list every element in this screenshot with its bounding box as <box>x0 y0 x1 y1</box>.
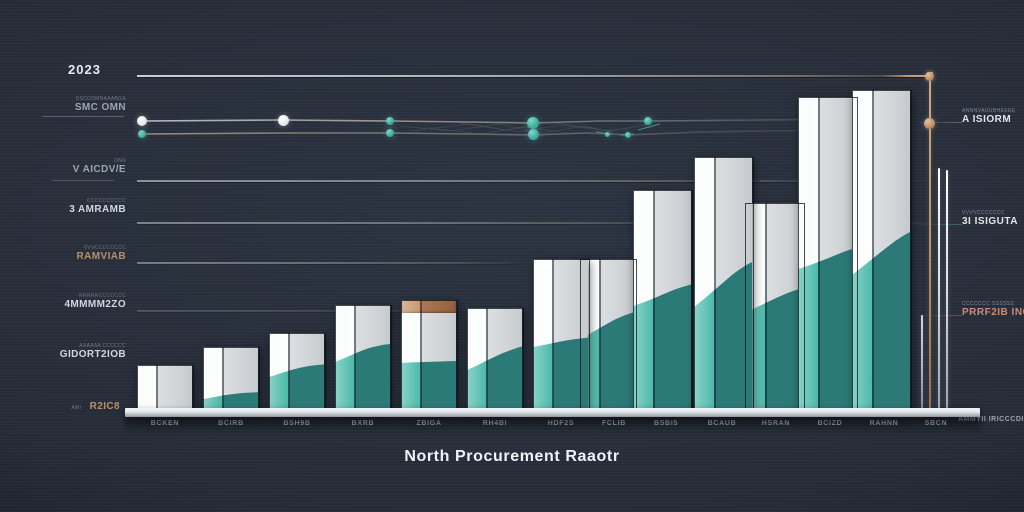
bar-13[interactable] <box>852 90 910 410</box>
axis-baseline <box>125 408 980 417</box>
bar-5-edge <box>420 300 422 410</box>
y-axis-label-3: CCCCCCCCCC 3 AMRAMB <box>0 198 126 215</box>
bar-2-teal <box>203 347 258 410</box>
bar-9[interactable] <box>633 190 691 410</box>
bar-10-edge <box>714 157 716 410</box>
bar-4-teal <box>335 305 390 410</box>
bar-7[interactable] <box>533 259 588 410</box>
annotation-right-2-connector <box>904 224 962 225</box>
line-marker-upper-3 <box>386 117 394 125</box>
bar-3[interactable] <box>269 333 324 410</box>
chart-canvas: 2023 DSCODMNAAABGA SMC OMN ONN V AICDV/E… <box>0 0 1024 512</box>
gridline-2 <box>137 180 787 182</box>
year-label: 2023 <box>68 62 101 77</box>
bar-4[interactable] <box>335 305 390 410</box>
bar-4-edge <box>354 305 356 410</box>
chart-title: North Procurement Raaotr <box>0 448 1024 466</box>
y-axis-label-5: RRRRRCCCCCCC 4MMMM2ZO <box>0 293 126 310</box>
annotation-right-1-connector <box>916 122 962 123</box>
bar-11[interactable] <box>745 203 803 410</box>
bar-3-teal <box>269 333 324 410</box>
bar-5[interactable] <box>401 300 456 410</box>
gridline-5 <box>137 310 437 312</box>
bar-1[interactable] <box>137 365 192 410</box>
bar-11-teal <box>745 203 803 410</box>
bar-9-teal <box>633 190 691 410</box>
annotation-right-2: VVVVCCCCCCC 3I ISIGUTA <box>962 210 1018 227</box>
bar-10-teal <box>694 157 752 410</box>
bar-8-edge <box>599 259 601 410</box>
annotation-right-3-value: PRRF2IB INCOGIM <box>962 307 1024 318</box>
y-axis-label-7: AMI R2IC8 <box>0 396 120 414</box>
bar-13-edge <box>872 90 874 410</box>
bar-6-edge <box>486 308 488 410</box>
y-axis-rule-1 <box>42 116 124 117</box>
annotation-right-1: ANNNVAUUBHEEEE A ISIORM <box>962 108 1016 125</box>
plot-area <box>0 0 1024 512</box>
vertical-rod-node-top <box>925 72 934 81</box>
line-marker-upper-2 <box>278 115 289 126</box>
y-axis-label-2: ONN V AICDV/E <box>0 158 126 175</box>
y-axis-label-7-value: R2IC8 <box>90 401 120 412</box>
line-marker-lower-3 <box>528 129 539 140</box>
candle-rod-1 <box>938 168 940 410</box>
bar-9-edge <box>653 190 655 410</box>
gridline-1 <box>137 75 930 77</box>
y-axis-label-1: DSCODMNAAABGA SMC OMN <box>0 96 126 113</box>
bar-1-edge <box>156 365 158 410</box>
bar-7-teal <box>533 259 588 410</box>
annotation-right-1-value: A ISIORM <box>962 114 1016 125</box>
bar-3-edge <box>288 333 290 410</box>
bar-2-edge <box>222 347 224 410</box>
bar-12[interactable] <box>798 97 856 410</box>
bar-6-teal <box>467 308 522 410</box>
bar-8-teal <box>580 259 635 410</box>
gridline-3 <box>137 222 702 224</box>
annotation-right-3-connector <box>912 315 962 316</box>
bar-5-teal <box>401 300 456 410</box>
annotation-right-2-value: 3I ISIGUTA <box>962 216 1018 227</box>
bar-12-edge <box>818 97 820 410</box>
bar-10[interactable] <box>694 157 752 410</box>
y-axis-label-2-value: V AICDV/E <box>0 164 126 175</box>
candle-rod-2 <box>946 170 948 410</box>
line-marker-lower-4 <box>605 132 610 137</box>
baseline-shadow <box>125 418 980 434</box>
line-marker-upper-5 <box>644 117 652 125</box>
vertical-rod-arm <box>880 75 930 77</box>
y-axis-label-6-value: GIDORT2IOB <box>0 349 126 360</box>
bar-2[interactable] <box>203 347 258 410</box>
line-marker-lower-1 <box>138 130 146 138</box>
bar-11-edge <box>765 203 767 410</box>
line-marker-upper-4 <box>527 117 539 129</box>
y-axis-label-1-value: SMC OMN <box>0 102 126 113</box>
candle-rod-3 <box>921 315 923 410</box>
annotation-right-3: CCCCCCC SSSSSS PRRF2IB INCOGIM <box>962 301 1024 318</box>
line-marker-lower-2 <box>386 129 394 137</box>
y-axis-rule-2 <box>52 180 114 181</box>
y-axis-label-3-value: 3 AMRAMB <box>0 204 126 215</box>
y-axis-label-4-value: RAMVIAB <box>0 251 126 262</box>
bar-12-teal <box>798 97 856 410</box>
bar-1-teal <box>137 365 192 410</box>
vertical-rod-node-mid <box>924 118 935 129</box>
bar-13-teal <box>852 90 910 410</box>
bar-5-tan-cap <box>401 300 456 313</box>
y-axis-label-7-sub: AMI <box>71 405 81 411</box>
line-marker-lower-5 <box>625 132 631 138</box>
bar-6[interactable] <box>467 308 522 410</box>
bar-8[interactable] <box>580 259 635 410</box>
y-axis-label-5-value: 4MMMM2ZO <box>0 299 126 310</box>
y-axis-label-4: VVVCCCCCCCC RAMVIAB <box>0 245 126 262</box>
bar-7-edge <box>552 259 554 410</box>
line-marker-upper-1 <box>137 116 147 126</box>
gridline-4 <box>137 262 517 264</box>
y-axis-label-6: AAAAAA CCCCCC GIDORT2IOB <box>0 343 126 360</box>
